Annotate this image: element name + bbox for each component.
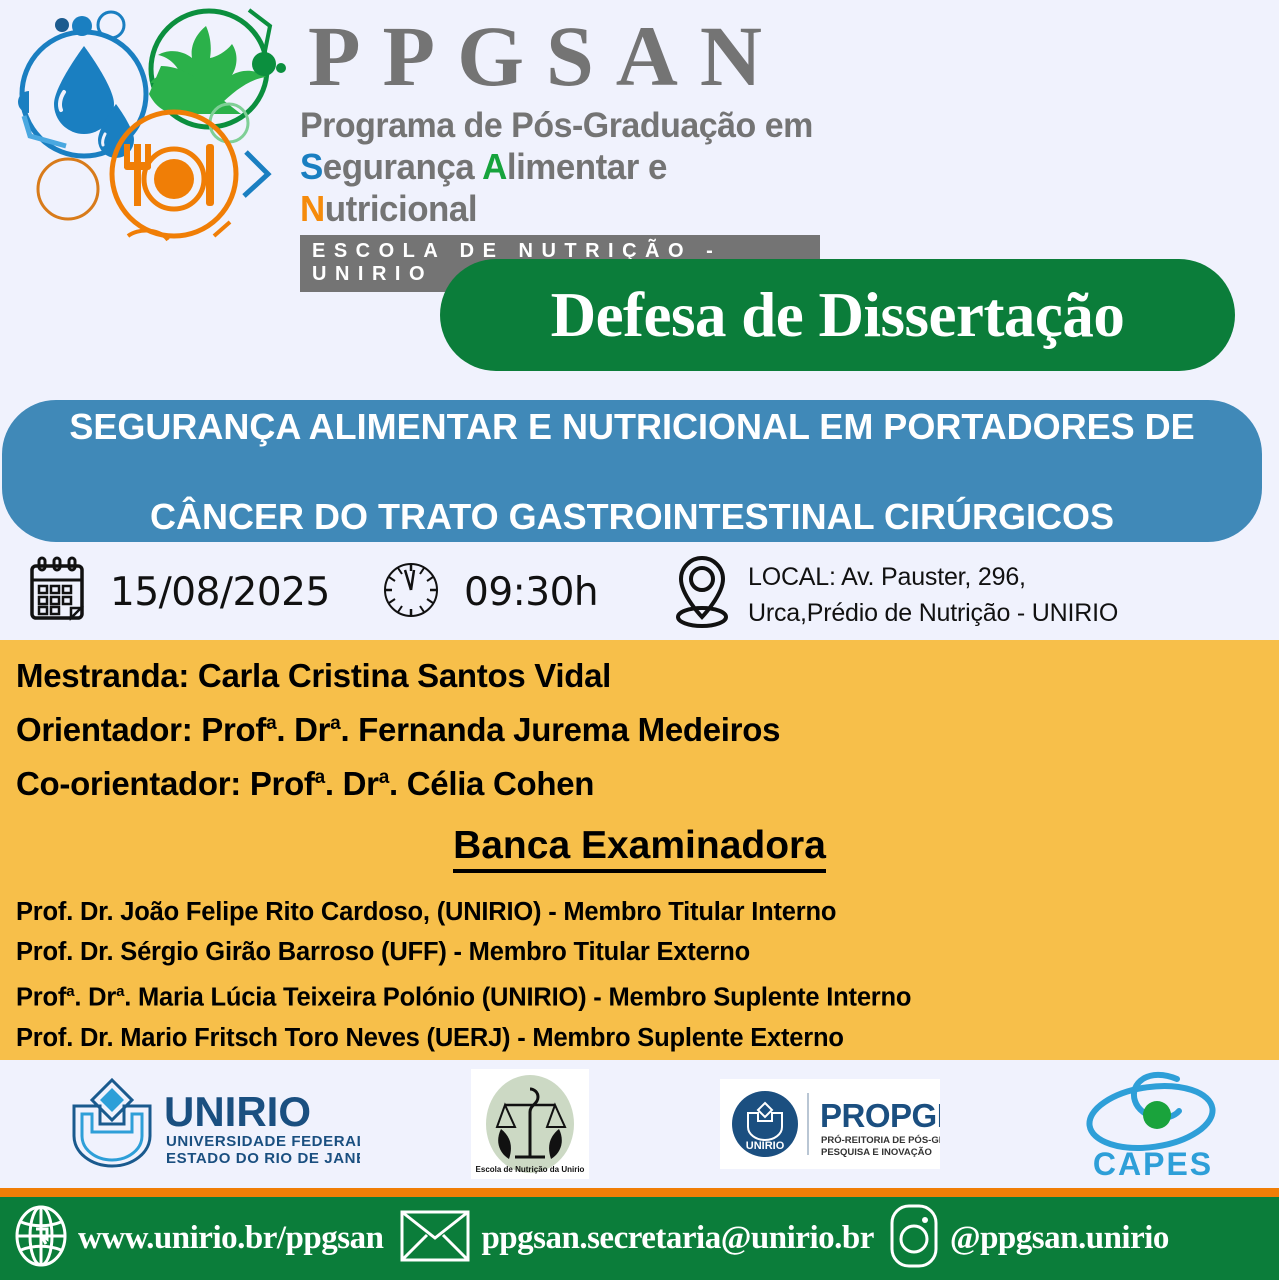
committee-members: Prof. Dr. João Felipe Rito Cardoso, (UNI… <box>0 892 1279 1058</box>
committee-member-post: . Maria Lúcia Teixeira Polónio (UNIRIO) … <box>124 984 911 1012</box>
orange-stripe <box>0 1188 1279 1197</box>
unirio-wordmark: UNIRIO <box>164 1088 311 1135</box>
committee-member: Profa. Dra. Maria Lúcia Teixeira Polónio… <box>16 972 1279 1018</box>
advisor-sup2: a <box>330 713 340 734</box>
committee-member-text: Prof. Dr. Sérgio Girão Barroso (UFF) - M… <box>16 938 750 966</box>
event-time-text: 09:30h <box>464 570 598 615</box>
thesis-title-line1: SEGURANÇA ALIMENTAR E NUTRICIONAL EM POR… <box>39 404 1224 449</box>
envelope-icon <box>399 1208 471 1269</box>
escola-nutricao-logo: Escola de Nutrição da Unirio <box>460 1060 600 1188</box>
svg-text:ESTADO DO RIO DE JANEIRO: ESTADO DO RIO DE JANEIRO <box>166 1150 360 1167</box>
thesis-title-line2: CÂNCER DO TRATO GASTROINTESTINAL CIRÚRGI… <box>39 494 1224 539</box>
advisor-line: Orientador: Profa. Dra. Fernanda Jurema … <box>16 700 1279 754</box>
coadvisor-name: . Célia Cohen <box>389 765 594 802</box>
people-list: Mestranda: Carla Cristina Santos Vidal O… <box>0 640 1279 808</box>
instagram-icon <box>888 1203 940 1274</box>
header: PPGSAN Programa de Pós-Graduação em Segu… <box>0 0 1279 250</box>
coadvisor-label: Co-orientador: Prof <box>16 765 315 802</box>
defense-type-label: Defesa de Dissertação <box>551 279 1125 352</box>
svg-text:PROPGPI: PROPGPI <box>820 1097 940 1134</box>
propgpi-logo: UNIRIO PROPGPI PRÓ-REITORIA DE PÓS-GRADU… <box>715 1060 945 1188</box>
advisor-mid: . Dr <box>276 711 330 748</box>
svg-text:PESQUISA E INOVAÇÃO: PESQUISA E INOVAÇÃO <box>821 1147 932 1158</box>
event-place-text: LOCAL: Av. Pauster, 296, Urca,Prédio de … <box>748 559 1118 631</box>
advisor-label: Orientador: Prof <box>16 711 266 748</box>
footer-website-text: www.unirio.br/ppgsan <box>78 1220 383 1257</box>
brand-line3: Segurança Alimentar e Nutricional <box>300 146 843 230</box>
brand-acronym: PPGSAN <box>308 6 860 106</box>
footer-email-text: ppgsan.secretaria@unirio.br <box>481 1220 873 1257</box>
committee-member: Prof. Dr. João Felipe Rito Cardoso, (UNI… <box>16 892 1279 932</box>
unirio-logo: UNIRIO UNIVERSIDADE FEDERAL DO ESTADO DO… <box>55 1060 365 1188</box>
svg-text:UNIRIO: UNIRIO <box>746 1140 785 1152</box>
footer-contact-bar: www.unirio.br/ppgsan ppgsan.secretaria@u… <box>0 1197 1279 1280</box>
event-place: LOCAL: Av. Pauster, 296, Urca,Prédio de … <box>672 552 1118 637</box>
footer-website[interactable]: www.unirio.br/ppgsan <box>14 1205 383 1272</box>
svg-text:PRÓ-REITORIA DE PÓS-GRADUAÇÃO,: PRÓ-REITORIA DE PÓS-GRADUAÇÃO, <box>821 1134 940 1146</box>
capes-logo: CAPES <box>1070 1060 1235 1188</box>
brand-text: PPGSAN Programa de Pós-Graduação em Segu… <box>300 6 860 242</box>
student-name: Carla Cristina Santos Vidal <box>198 657 611 694</box>
committee-member-text: Prof. Dr. Mario Fritsch Toro Neves (UERJ… <box>16 1024 844 1052</box>
committee-member-text: Prof. Dr. João Felipe Rito Cardoso, (UNI… <box>16 898 836 926</box>
coadvisor-line: Co-orientador: Profa. Dra. Célia Cohen <box>16 754 1279 808</box>
footer-instagram-text: @ppgsan.unirio <box>950 1220 1169 1257</box>
coadvisor-mid: . Dr <box>325 765 379 802</box>
ppgsan-logo-mark <box>6 4 296 244</box>
student-label: Mestranda: <box>16 657 198 694</box>
event-place-line1: LOCAL: Av. Pauster, 296, <box>748 563 1026 591</box>
event-time: 09:30h <box>380 556 598 629</box>
event-info-row: 15/08/2025 09:30h <box>0 552 1279 640</box>
advisor-sup1: a <box>266 713 276 734</box>
event-place-line2: Urca,Prédio de Nutrição - UNIRIO <box>748 599 1118 627</box>
coadvisor-sup1: a <box>315 767 325 788</box>
committee-member: Prof. Dr. Mario Fritsch Toro Neves (UERJ… <box>16 1018 1279 1058</box>
committee-member-sup2: a <box>116 983 124 1000</box>
committee-heading: Banca Examinadora <box>0 824 1279 868</box>
calendar-icon <box>26 556 88 629</box>
committee-member: Prof. Dr. Sérgio Girão Barroso (UFF) - M… <box>16 932 1279 972</box>
student-line: Mestranda: Carla Cristina Santos Vidal <box>16 652 1279 700</box>
thesis-title-text: SEGURANÇA ALIMENTAR E NUTRICIONAL EM POR… <box>9 404 1254 539</box>
advisor-name: . Fernanda Jurema Medeiros <box>340 711 780 748</box>
participants-section: Mestranda: Carla Cristina Santos Vidal O… <box>0 640 1279 1060</box>
sponsor-logos: UNIRIO UNIVERSIDADE FEDERAL DO ESTADO DO… <box>0 1060 1279 1188</box>
svg-text:Escola de Nutrição da Unirio: Escola de Nutrição da Unirio <box>476 1165 585 1174</box>
event-date: 15/08/2025 <box>26 556 330 629</box>
defense-type-banner: Defesa de Dissertação <box>440 259 1235 371</box>
svg-text:CAPES: CAPES <box>1092 1146 1212 1182</box>
committee-heading-text: Banca Examinadora <box>453 824 826 873</box>
footer-email[interactable]: ppgsan.secretaria@unirio.br <box>399 1208 873 1269</box>
committee-member-mid: . Dr <box>74 984 116 1012</box>
map-pin-icon <box>672 552 732 637</box>
footer-instagram[interactable]: @ppgsan.unirio <box>888 1203 1169 1274</box>
committee-member-pre: Prof <box>16 984 66 1012</box>
brand-line2: Programa de Pós-Graduação em <box>300 106 843 146</box>
clock-icon <box>380 556 442 629</box>
event-date-text: 15/08/2025 <box>110 570 330 615</box>
coadvisor-sup2: a <box>379 767 389 788</box>
globe-icon <box>14 1205 68 1272</box>
svg-text:UNIVERSIDADE FEDERAL DO: UNIVERSIDADE FEDERAL DO <box>166 1133 360 1150</box>
thesis-title-banner: SEGURANÇA ALIMENTAR E NUTRICIONAL EM POR… <box>2 400 1262 542</box>
